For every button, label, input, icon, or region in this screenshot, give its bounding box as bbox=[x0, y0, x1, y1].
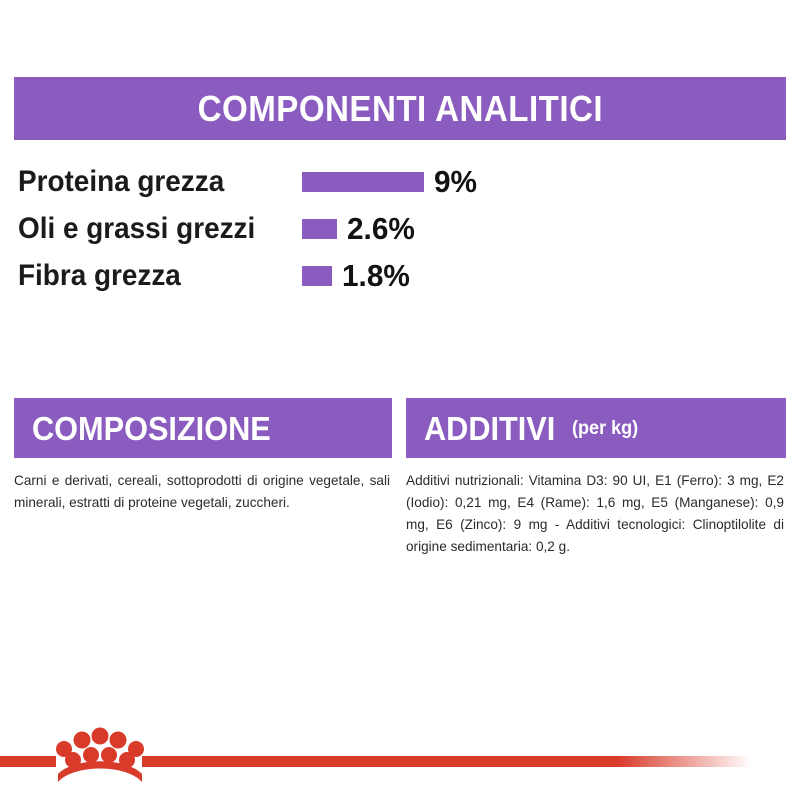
analytical-constituents-header: COMPONENTI ANALITICI bbox=[14, 77, 786, 140]
composition-title: COMPOSIZIONE bbox=[32, 412, 271, 445]
nutrition-info-panel: COMPONENTI ANALITICI Proteina grezza 9% … bbox=[0, 0, 800, 800]
brand-footer bbox=[0, 712, 800, 800]
additives-title: ADDITIVI bbox=[424, 412, 555, 445]
additives-unit-note: (per kg) bbox=[572, 419, 638, 438]
constituent-bar-group: 2.6% bbox=[302, 205, 418, 252]
footer-rule-left bbox=[0, 756, 56, 767]
page-title: COMPONENTI ANALITICI bbox=[197, 91, 602, 127]
constituent-bar-group: 1.8% bbox=[302, 252, 413, 299]
additives-body: Additivi nutrizionali: Vitamina D3: 90 U… bbox=[406, 470, 786, 558]
constituent-label: Fibra grezza bbox=[18, 252, 267, 299]
constituent-bar bbox=[302, 266, 332, 286]
composition-section: COMPOSIZIONE Carni e derivati, cereali, … bbox=[14, 398, 392, 514]
constituent-row: Proteina grezza 9% bbox=[0, 158, 800, 205]
constituent-value: 2.6% bbox=[347, 213, 415, 244]
constituent-bar-group: 9% bbox=[302, 158, 479, 205]
footer-rule-right bbox=[142, 756, 752, 767]
constituent-value: 1.8% bbox=[342, 260, 410, 291]
composition-body: Carni e derivati, cereali, sottoprodotti… bbox=[14, 470, 392, 514]
additives-section: ADDITIVI (per kg) Additivi nutrizionali:… bbox=[406, 398, 786, 558]
constituent-value: 9% bbox=[434, 166, 477, 197]
constituent-row: Oli e grassi grezzi 2.6% bbox=[0, 205, 800, 252]
analytical-constituents-chart: Proteina grezza 9% Oli e grassi grezzi 2… bbox=[0, 158, 800, 299]
composition-header: COMPOSIZIONE bbox=[14, 398, 392, 458]
additives-header: ADDITIVI (per kg) bbox=[406, 398, 786, 458]
constituent-label: Proteina grezza bbox=[18, 158, 267, 205]
royal-canin-crown-icon bbox=[52, 724, 148, 786]
constituent-bar bbox=[302, 172, 424, 192]
constituent-bar bbox=[302, 219, 337, 239]
constituent-label: Oli e grassi grezzi bbox=[18, 205, 267, 252]
constituent-row: Fibra grezza 1.8% bbox=[0, 252, 800, 299]
